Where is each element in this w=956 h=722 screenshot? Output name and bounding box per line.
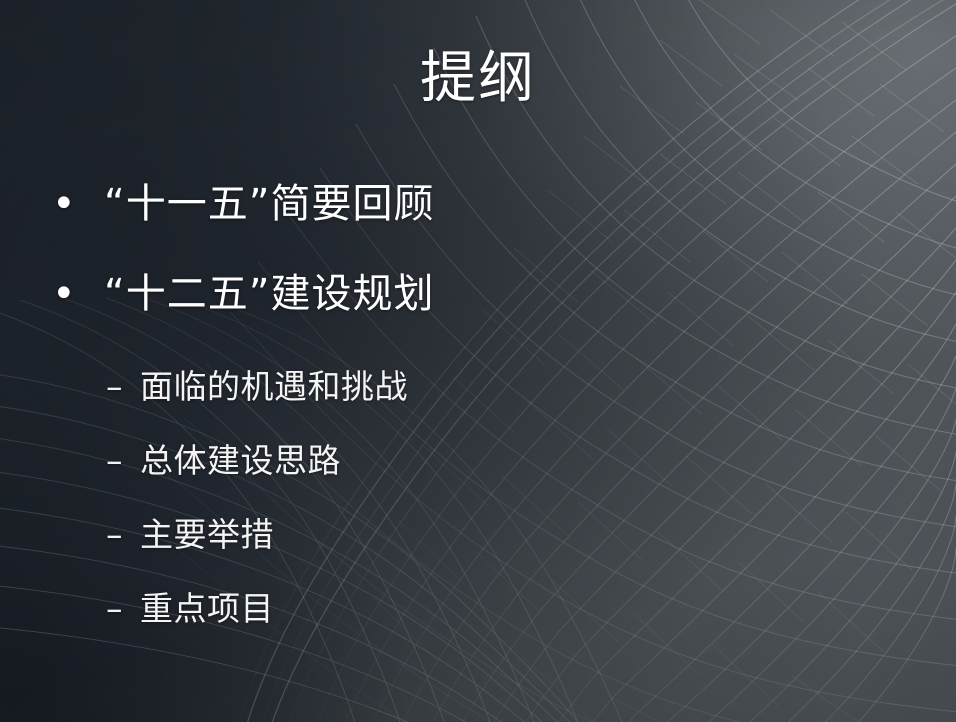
outline-item-level1[interactable]: • “十一五”简要回顾 <box>0 178 956 230</box>
outline-item-level2[interactable]: – 总体建设思路 <box>0 438 956 484</box>
outline-item-label: 面临的机遇和挑战 <box>140 364 408 410</box>
bullet-dash-icon: – <box>106 586 140 632</box>
bullet-dash-icon: – <box>106 438 140 484</box>
outline-item-label: 主要举措 <box>140 512 274 558</box>
outline-item-label: 重点项目 <box>140 586 274 632</box>
outline-item-level1[interactable]: • “十二五”建设规划 <box>0 268 956 320</box>
outline-item-level2[interactable]: – 重点项目 <box>0 586 956 632</box>
bullet-dot-icon: • <box>52 178 104 230</box>
outline-item-level2[interactable]: – 主要举措 <box>0 512 956 558</box>
bullet-dash-icon: – <box>106 364 140 410</box>
bullet-dash-icon: – <box>106 512 140 558</box>
outline-item-label: “十二五”建设规划 <box>104 268 434 320</box>
bullet-dot-icon: • <box>52 268 104 320</box>
presentation-slide: 提纲 • “十一五”简要回顾 • “十二五”建设规划 – 面临的机遇和挑战 – … <box>0 0 956 722</box>
outline-item-label: 总体建设思路 <box>140 438 341 484</box>
slide-title: 提纲 <box>0 48 956 111</box>
slide-body-outline: • “十一五”简要回顾 • “十二五”建设规划 – 面临的机遇和挑战 – 总体建… <box>0 178 956 660</box>
outline-item-label: “十一五”简要回顾 <box>104 178 434 230</box>
outline-item-level2[interactable]: – 面临的机遇和挑战 <box>0 364 956 410</box>
